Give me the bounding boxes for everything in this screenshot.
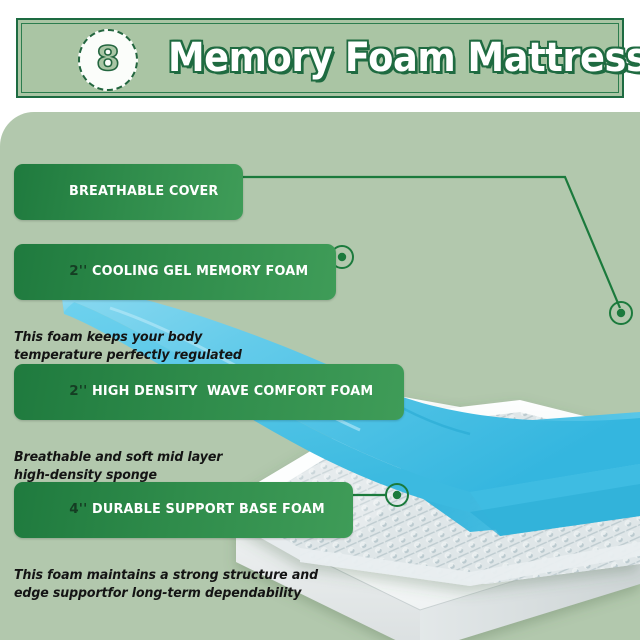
header-bar: 8 Memory Foam Mattress (16, 18, 624, 98)
callout-cooling-gel-memory-foam: 2'' COOLING GEL MEMORY FOAM This foam ke… (14, 244, 336, 364)
step-number-badge: 8 (78, 29, 138, 91)
callout-description-wave-comfort-foam: Breathable and soft mid layer high-densi… (14, 430, 404, 485)
main-panel: BREATHABLE COVER This cover is soft and … (0, 112, 640, 640)
callout-thickness-text: 4'' (69, 501, 87, 517)
callout-description-cooling-gel-memory-foam: This foam keeps your body temperature pe… (14, 310, 336, 365)
callout-label-breathable-cover[interactable]: BREATHABLE COVER (14, 164, 243, 220)
callout-support-base-foam: 4'' DURABLE SUPPORT BASE FOAM This foam … (14, 482, 353, 602)
callout-label-cooling-gel-memory-foam[interactable]: 2'' COOLING GEL MEMORY FOAM (14, 244, 336, 300)
callout-thickness-text: 2'' (69, 263, 87, 279)
page-title: Memory Foam Mattress (168, 35, 640, 81)
step-number-text: 8 (96, 42, 120, 78)
callout-thickness-text: 2'' (69, 383, 87, 399)
callout-wave-comfort-foam: 2'' HIGH DENSITY WAVE COMFORT FOAM Breat… (14, 364, 404, 484)
callout-description-text: Breathable and soft mid layer high-densi… (14, 448, 222, 484)
callout-label-text: COOLING GEL MEMORY FOAM (92, 265, 308, 279)
callout-label-text: HIGH DENSITY WAVE COMFORT FOAM (92, 385, 373, 399)
callout-label-support-base-foam[interactable]: 4'' DURABLE SUPPORT BASE FOAM (14, 482, 353, 538)
callout-description-support-base-foam: This foam maintains a strong structure a… (14, 548, 353, 603)
callout-description-text: This foam maintains a strong structure a… (14, 566, 318, 602)
header-inner: 8 Memory Foam Mattress (18, 20, 622, 96)
infographic-root: 8 Memory Foam Mattress (0, 0, 640, 640)
callout-label-wave-comfort-foam[interactable]: 2'' HIGH DENSITY WAVE COMFORT FOAM (14, 364, 404, 420)
callout-label-text: DURABLE SUPPORT BASE FOAM (92, 503, 325, 517)
callout-description-text: This foam keeps your body temperature pe… (14, 328, 242, 364)
callout-label-text: BREATHABLE COVER (69, 185, 219, 199)
page-title-text: Memory Foam Mattress (168, 35, 640, 81)
